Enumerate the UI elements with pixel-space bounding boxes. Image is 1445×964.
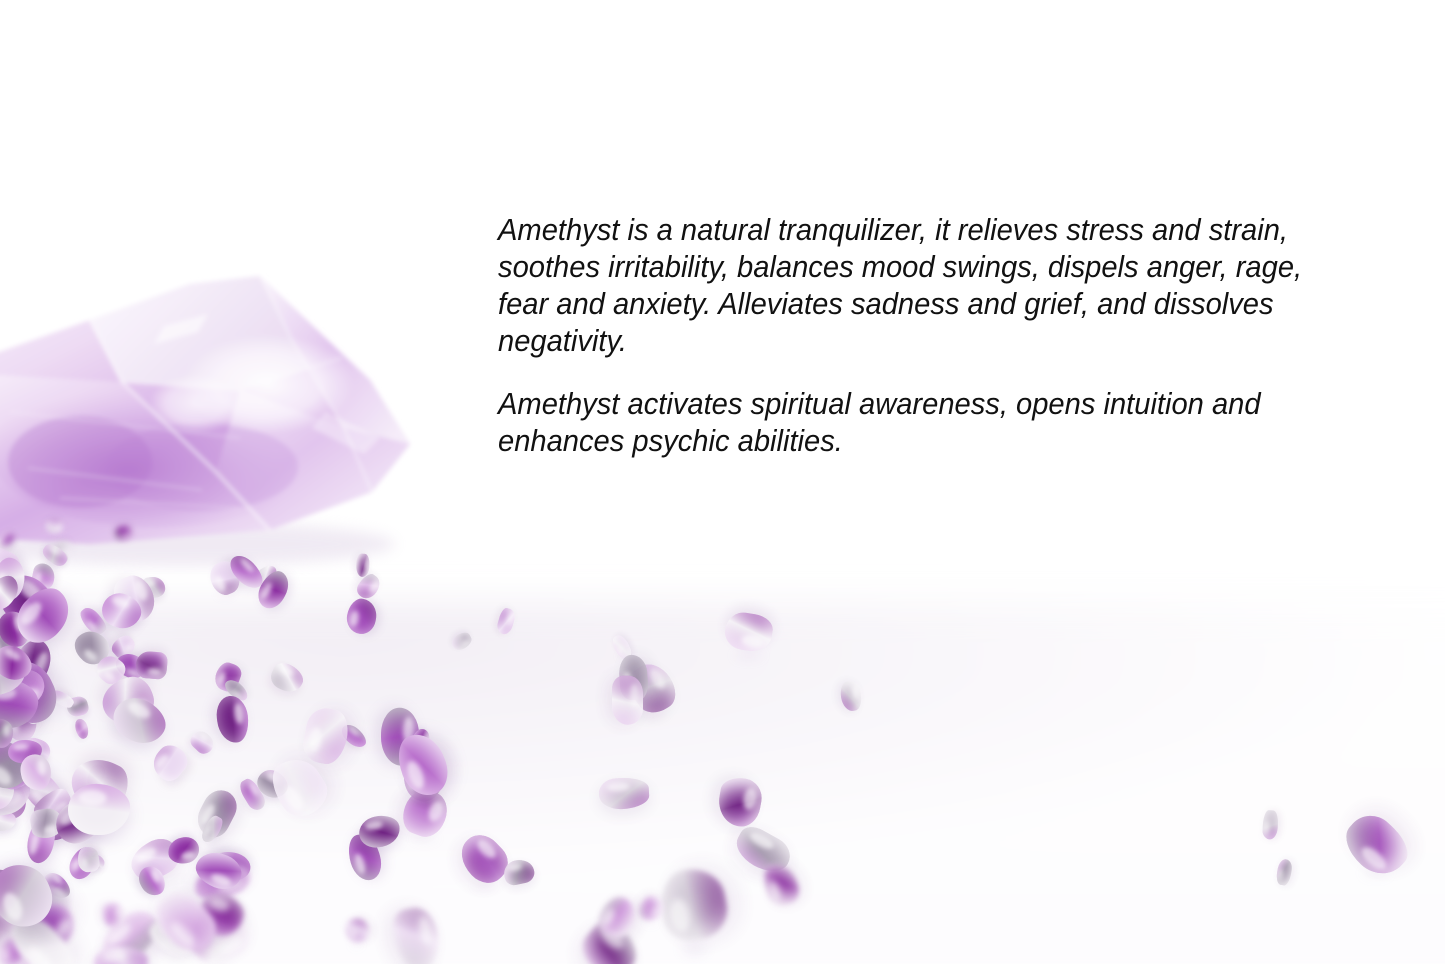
paragraph-benefits: Amethyst is a natural tranquilizer, it r… xyxy=(498,212,1321,360)
large-amethyst-point-crystal-icon xyxy=(0,262,470,562)
paragraph-spiritual: Amethyst activates spiritual awareness, … xyxy=(498,386,1321,460)
infographic-banner: Infused with Amethyst Crystals Amethyst … xyxy=(0,0,1445,964)
amethyst-photo-scene xyxy=(0,0,1445,964)
body-copy: Amethyst is a natural tranquilizer, it r… xyxy=(498,212,1360,460)
amethyst-chip xyxy=(135,651,168,680)
amethyst-chip xyxy=(612,675,643,724)
